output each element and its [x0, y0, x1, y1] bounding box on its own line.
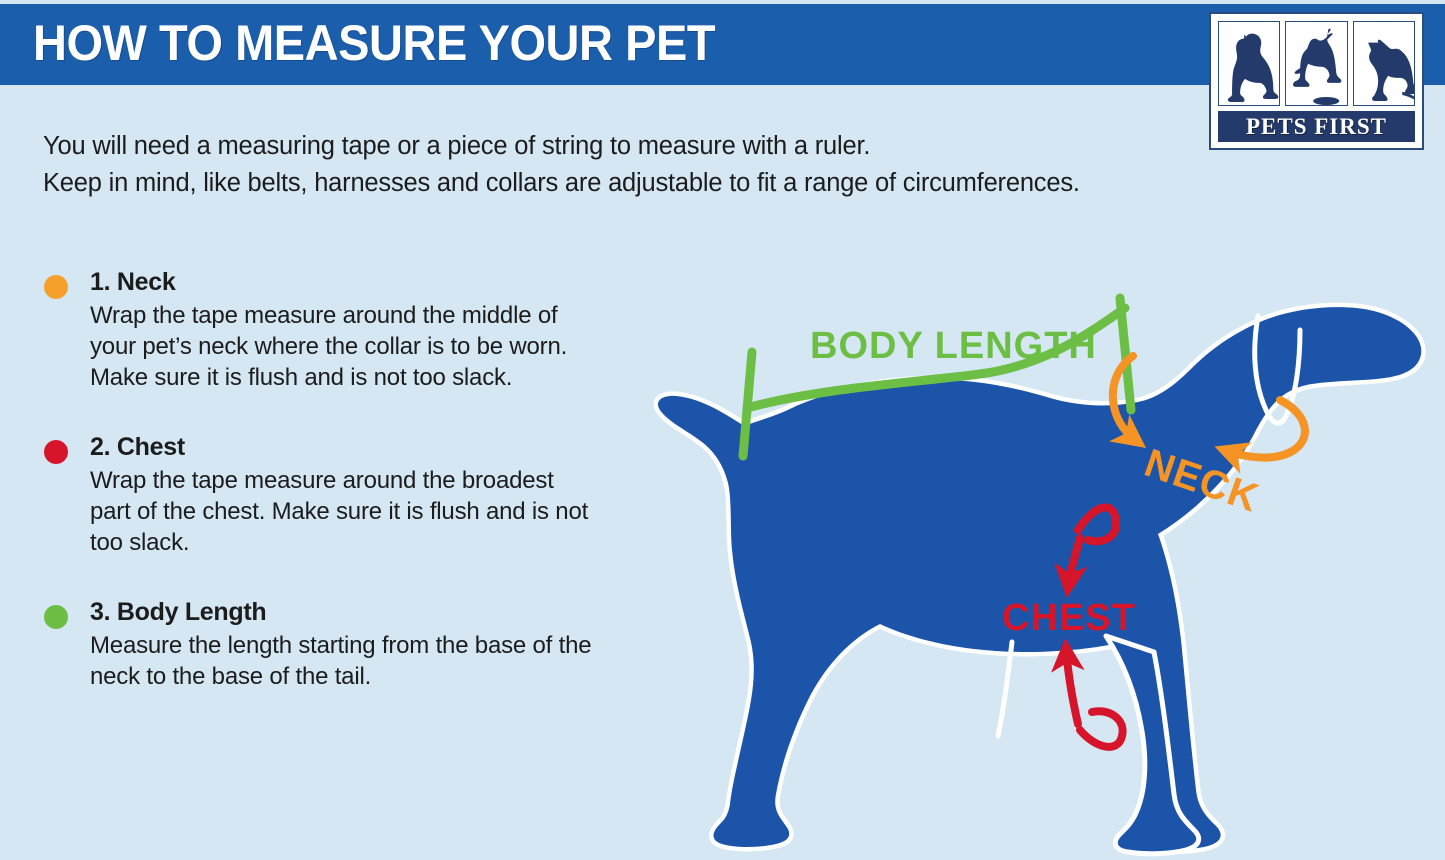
step-chest-body-line-1: Wrap the tape measure around the broades…	[90, 465, 664, 496]
measurement-steps-list: 1. Neck Wrap the tape measure around the…	[44, 266, 664, 730]
bullet-neck-icon	[44, 275, 68, 299]
step-body-length-body: Measure the length starting from the bas…	[90, 630, 664, 692]
step-neck-body-line-1: Wrap the tape measure around the middle …	[90, 300, 664, 331]
step-body-length-body-line-2: neck to the base of the tail.	[90, 661, 664, 692]
step-chest-body-line-3: too slack.	[90, 527, 664, 558]
intro-line-1: You will need a measuring tape or a piec…	[43, 128, 1203, 165]
step-neck-body: Wrap the tape measure around the middle …	[90, 300, 664, 393]
logo-panel-2	[1285, 21, 1347, 106]
logo-wordmark: PETS FIRST	[1218, 111, 1415, 142]
dog-measurement-diagram: BODY LENGTH NECK CHEST	[640, 238, 1445, 860]
step-neck: 1. Neck Wrap the tape measure around the…	[44, 266, 664, 393]
dog-silhouette-icon	[658, 307, 1421, 854]
bullet-chest-icon	[44, 440, 68, 464]
bullet-body-length-icon	[44, 605, 68, 629]
step-body-length-body-line-1: Measure the length starting from the bas…	[90, 630, 664, 661]
intro-line-2: Keep in mind, like belts, harnesses and …	[43, 165, 1203, 202]
page-title: HOW TO MEASURE YOUR PET	[33, 14, 715, 72]
step-chest-body: Wrap the tape measure around the broades…	[90, 465, 664, 558]
step-chest-body-line-2: part of the chest. Make sure it is flush…	[90, 496, 664, 527]
body-length-label: BODY LENGTH	[810, 325, 1097, 367]
step-body-length-heading: 3. Body Length	[90, 596, 664, 628]
pets-first-logo: PETS FIRST	[1209, 12, 1424, 150]
logo-panel-1	[1218, 21, 1280, 106]
logo-panel-row	[1218, 21, 1415, 106]
step-neck-body-line-3: Make sure it is flush and is not too sla…	[90, 362, 664, 393]
step-chest-heading: 2. Chest	[90, 431, 664, 463]
step-chest: 2. Chest Wrap the tape measure around th…	[44, 431, 664, 558]
step-body-length: 3. Body Length Measure the length starti…	[44, 596, 664, 692]
step-neck-body-line-2: your pet’s neck where the collar is to b…	[90, 331, 664, 362]
intro-paragraph: You will need a measuring tape or a piec…	[43, 128, 1203, 202]
chest-label: CHEST	[1002, 597, 1136, 639]
how-to-measure-your-pet-infographic: HOW TO MEASURE YOUR PET	[0, 0, 1445, 860]
logo-panel-3	[1353, 21, 1415, 106]
step-neck-heading: 1. Neck	[90, 266, 664, 298]
